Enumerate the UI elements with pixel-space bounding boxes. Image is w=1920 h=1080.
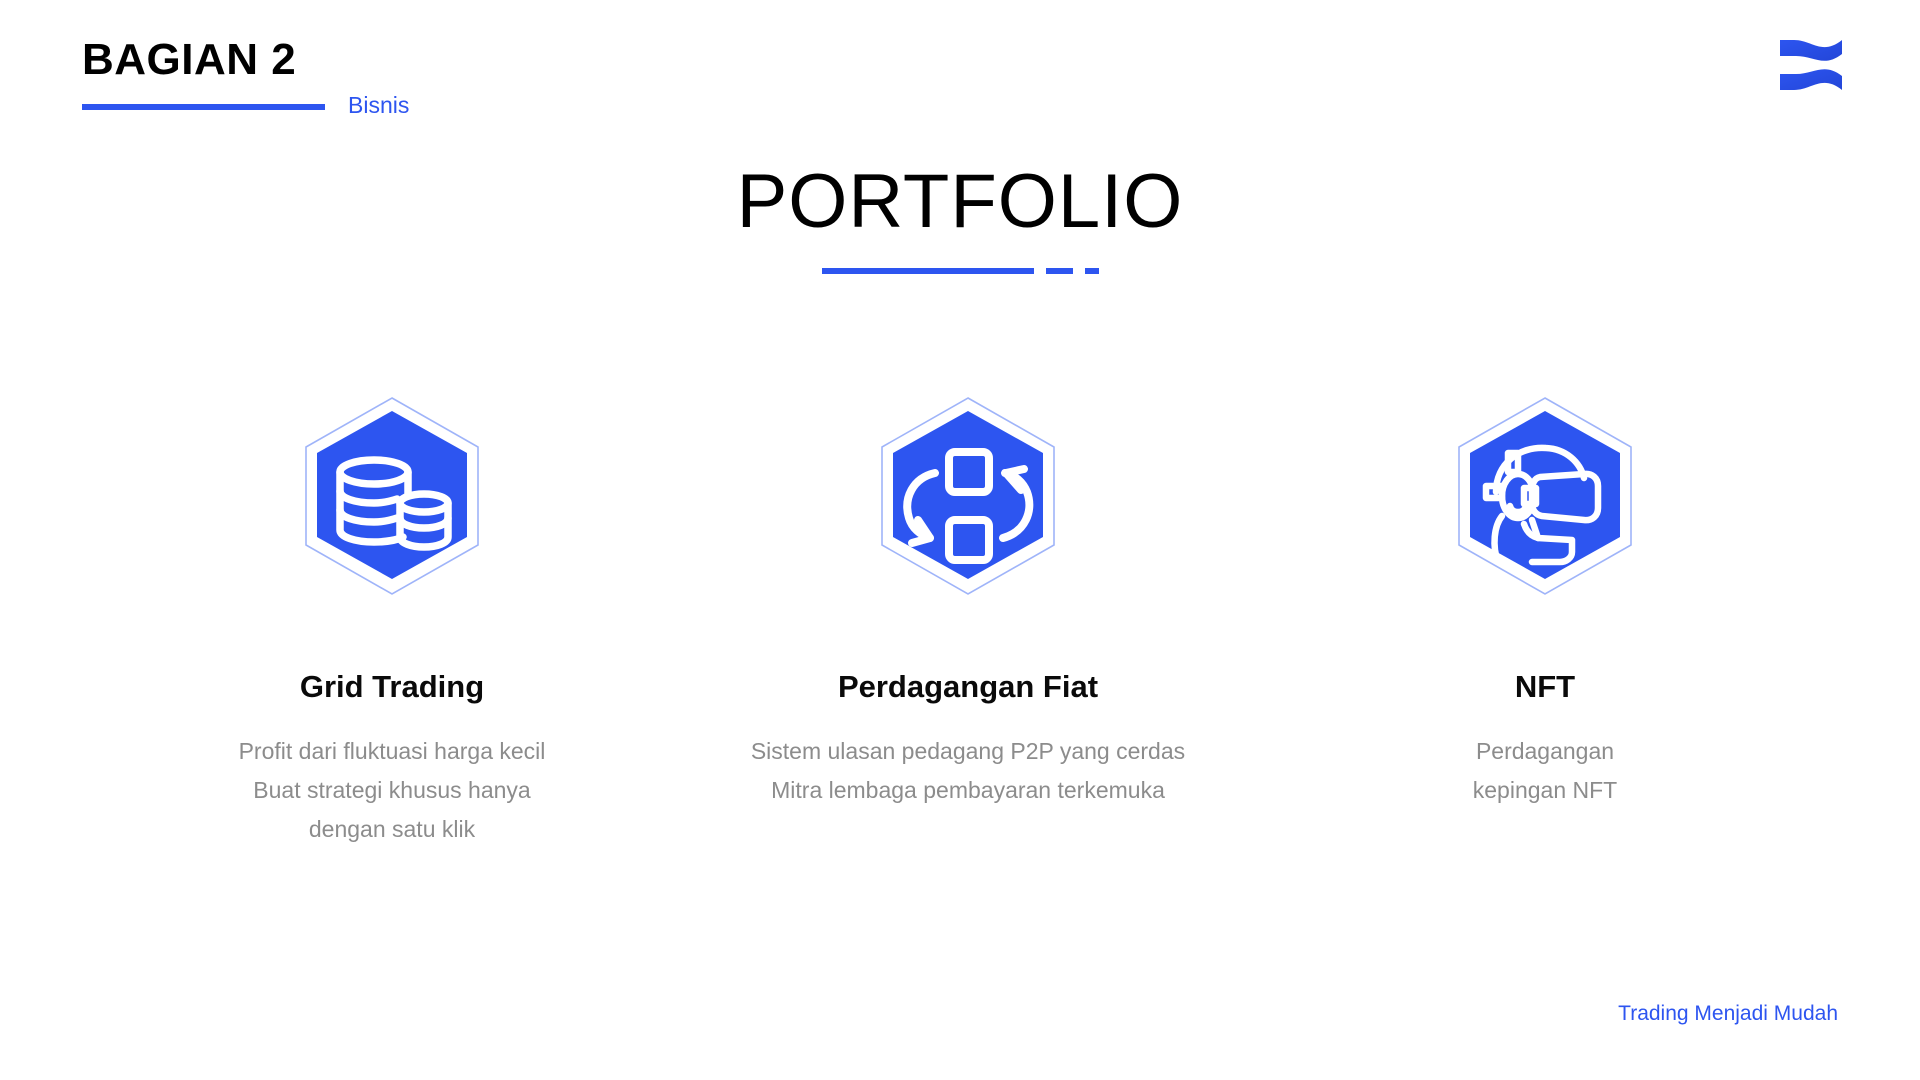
card-description: Perdagangan kepingan NFT [1380, 732, 1710, 810]
card-grid-trading[interactable]: Grid Trading Profit dari fluktuasi harga… [152, 380, 632, 849]
card-title: Grid Trading [152, 668, 632, 706]
card-icon-wrap [152, 380, 632, 630]
card-nft[interactable]: NFT Perdagangan kepingan NFT [1380, 380, 1710, 810]
card-perdagangan-fiat[interactable]: Perdagangan Fiat Sistem ulasan pedagang … [700, 380, 1236, 810]
slide-root: BAGIAN 2 Bisnis PORTFOLIO [0, 0, 1920, 1080]
footer-tagline: Trading Menjadi Mudah [1618, 1001, 1838, 1027]
vr-headset-icon [1420, 380, 1670, 630]
card-icon-wrap [700, 380, 1236, 630]
card-title: NFT [1380, 668, 1710, 706]
card-title: Perdagangan Fiat [700, 668, 1236, 706]
card-icon-wrap [1380, 380, 1710, 630]
card-description: Profit dari fluktuasi harga kecil Buat s… [152, 732, 632, 849]
exchange-swap-icon [843, 380, 1093, 630]
card-description: Sistem ulasan pedagang P2P yang cerdas M… [700, 732, 1236, 810]
coins-stack-icon [267, 380, 517, 630]
card-list: Grid Trading Profit dari fluktuasi harga… [0, 0, 1920, 1080]
